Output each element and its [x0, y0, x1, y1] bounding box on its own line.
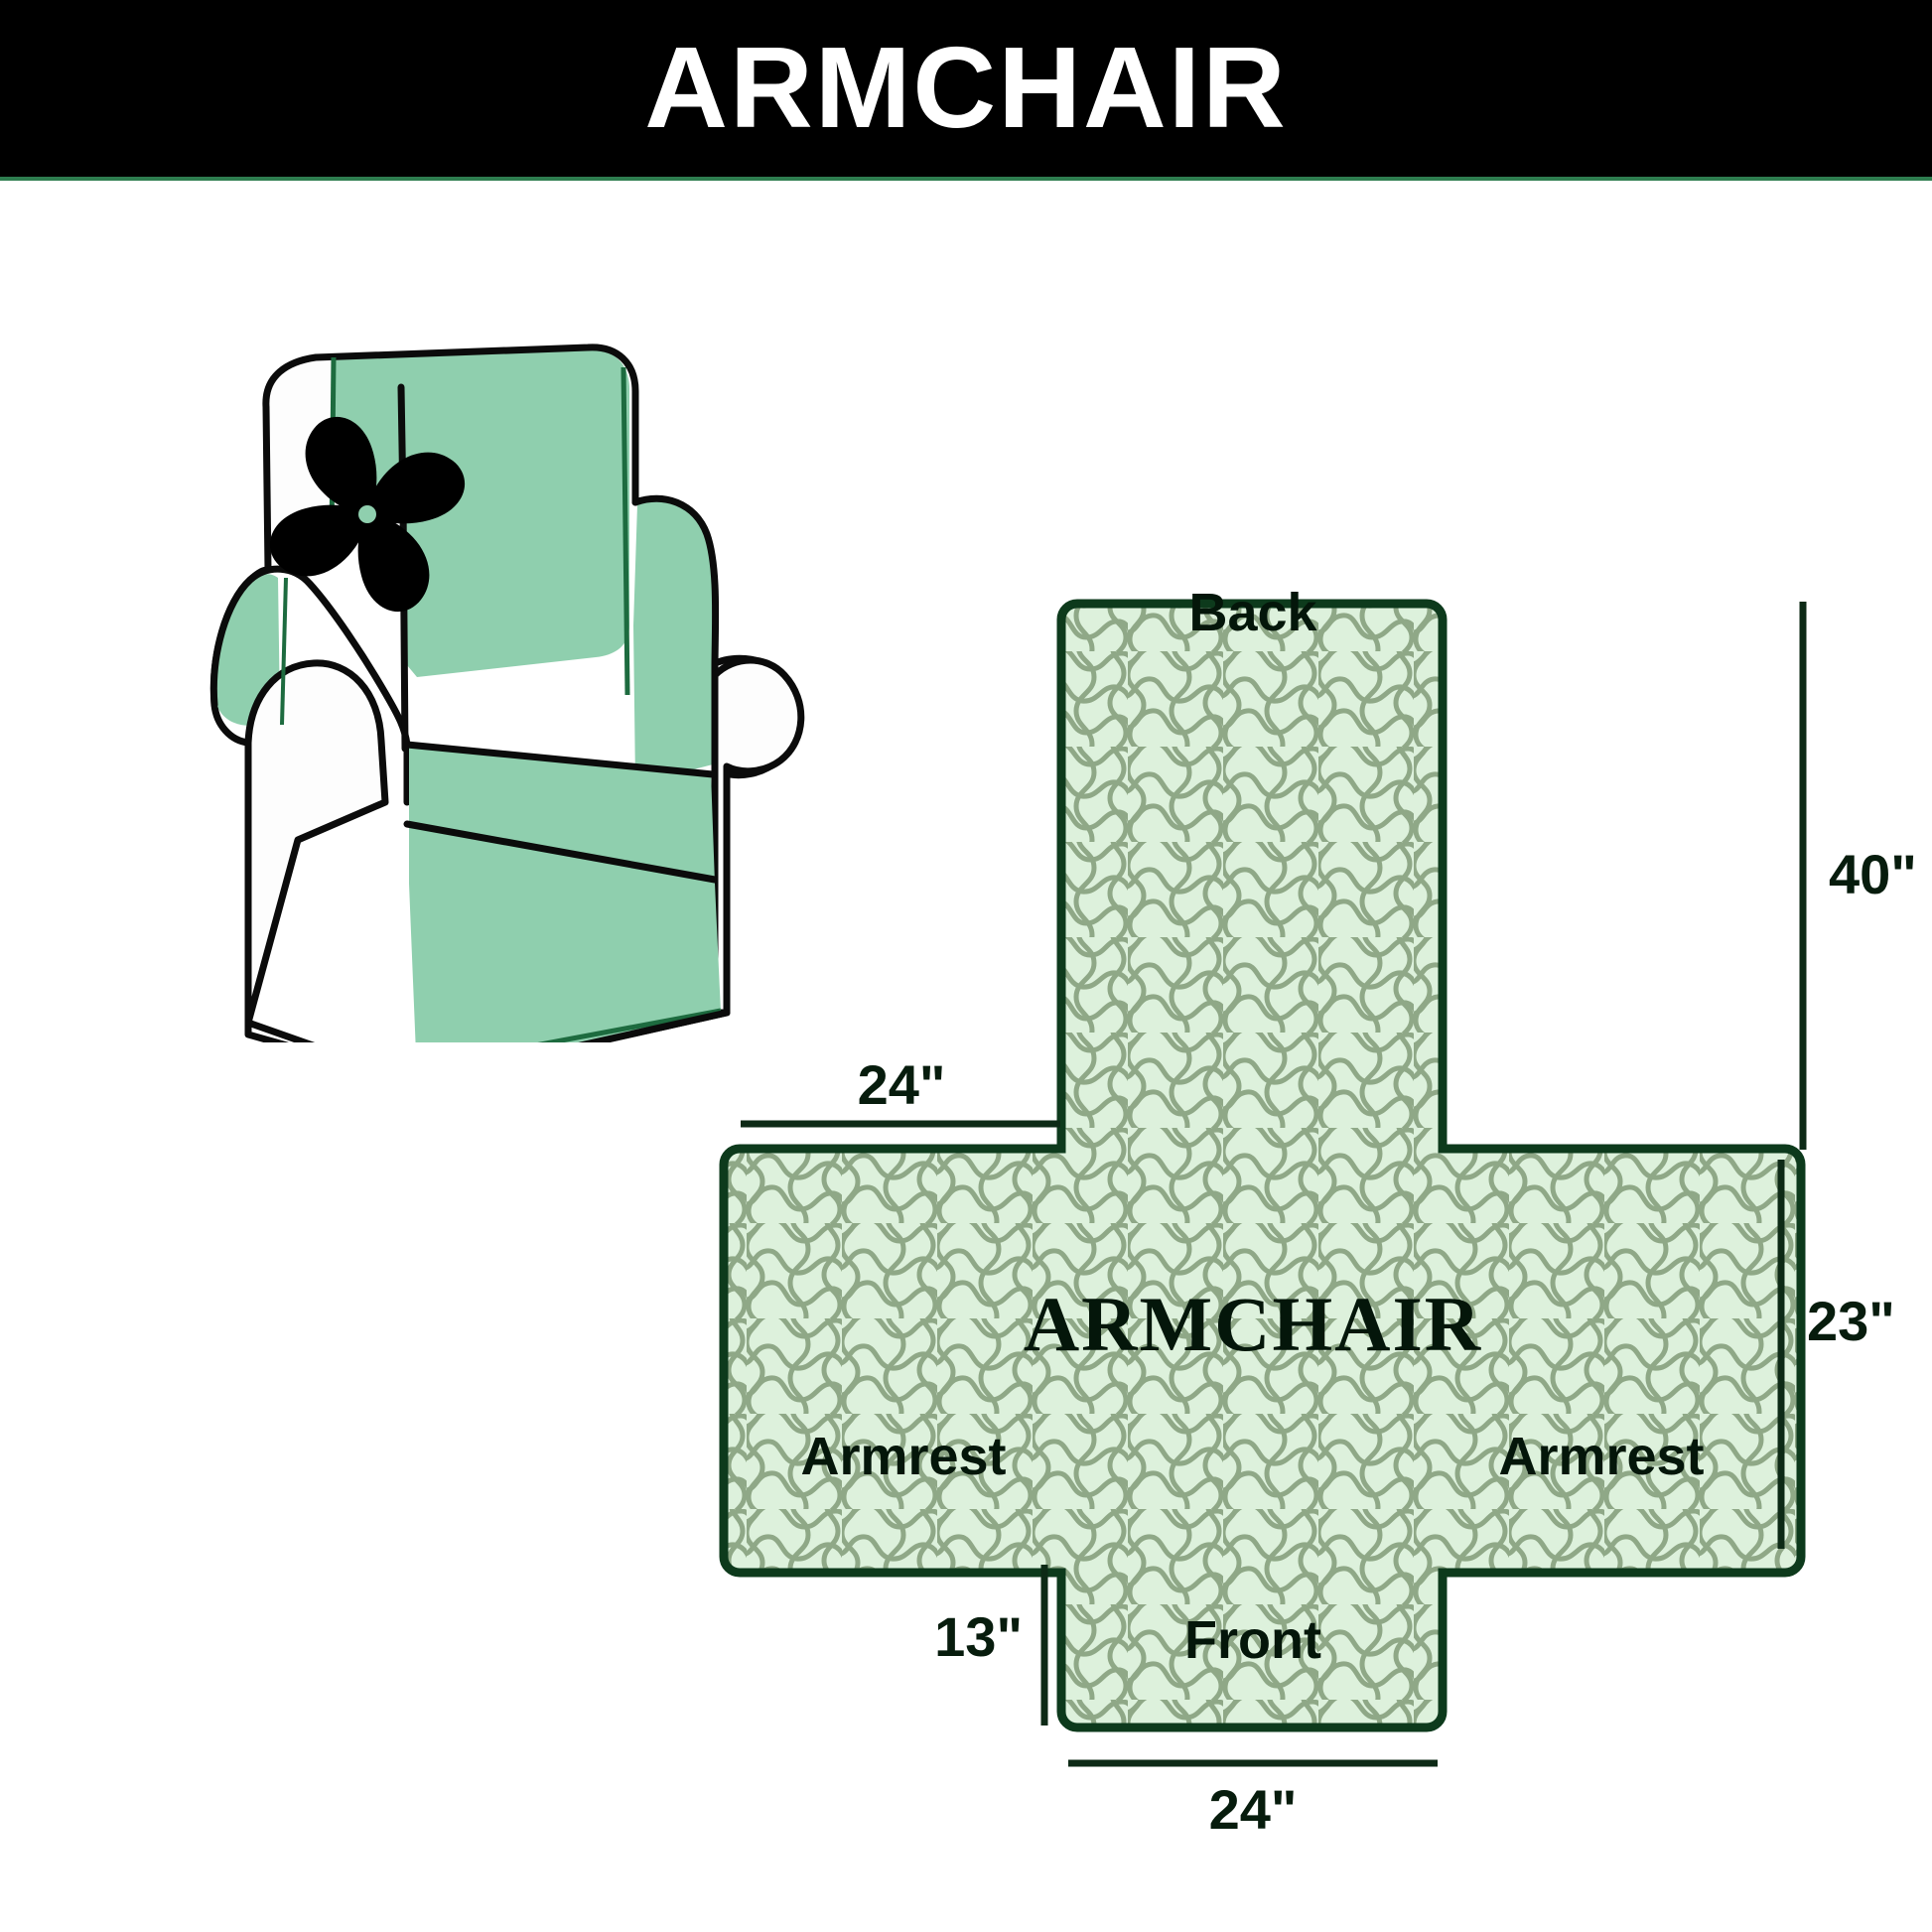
banner-divider [0, 177, 1932, 181]
svg-text:23": 23" [1807, 1290, 1895, 1352]
panel-label-front: Front [1184, 1610, 1321, 1670]
cover-shape [556, 556, 1932, 1866]
svg-text:24": 24" [858, 1053, 946, 1116]
dimension-back-height: 40" [1803, 602, 1917, 1150]
svg-text:40": 40" [1829, 843, 1917, 905]
dimension-front-height: 13" [934, 1565, 1044, 1725]
dimension-armrest-top: 24" [741, 1053, 1060, 1124]
svg-text:13": 13" [934, 1605, 1023, 1668]
chair-left-arm-roll [248, 663, 385, 1023]
dimension-front-width: 24" [1068, 1763, 1438, 1841]
panel-label-back: Back [1188, 583, 1317, 642]
page-title: ARMCHAIR [0, 0, 1932, 175]
header-banner: ARMCHAIR [0, 0, 1932, 181]
panel-label-armrest-right: Armrest [1498, 1427, 1704, 1486]
panel-label-center: ARMCHAIR [1024, 1281, 1482, 1367]
svg-text:24": 24" [1209, 1778, 1298, 1841]
panel-label-armrest-left: Armrest [800, 1427, 1006, 1486]
slipcover-layout-diagram: Back Armrest Armrest Front ARMCHAIR 40" … [556, 556, 1932, 1866]
